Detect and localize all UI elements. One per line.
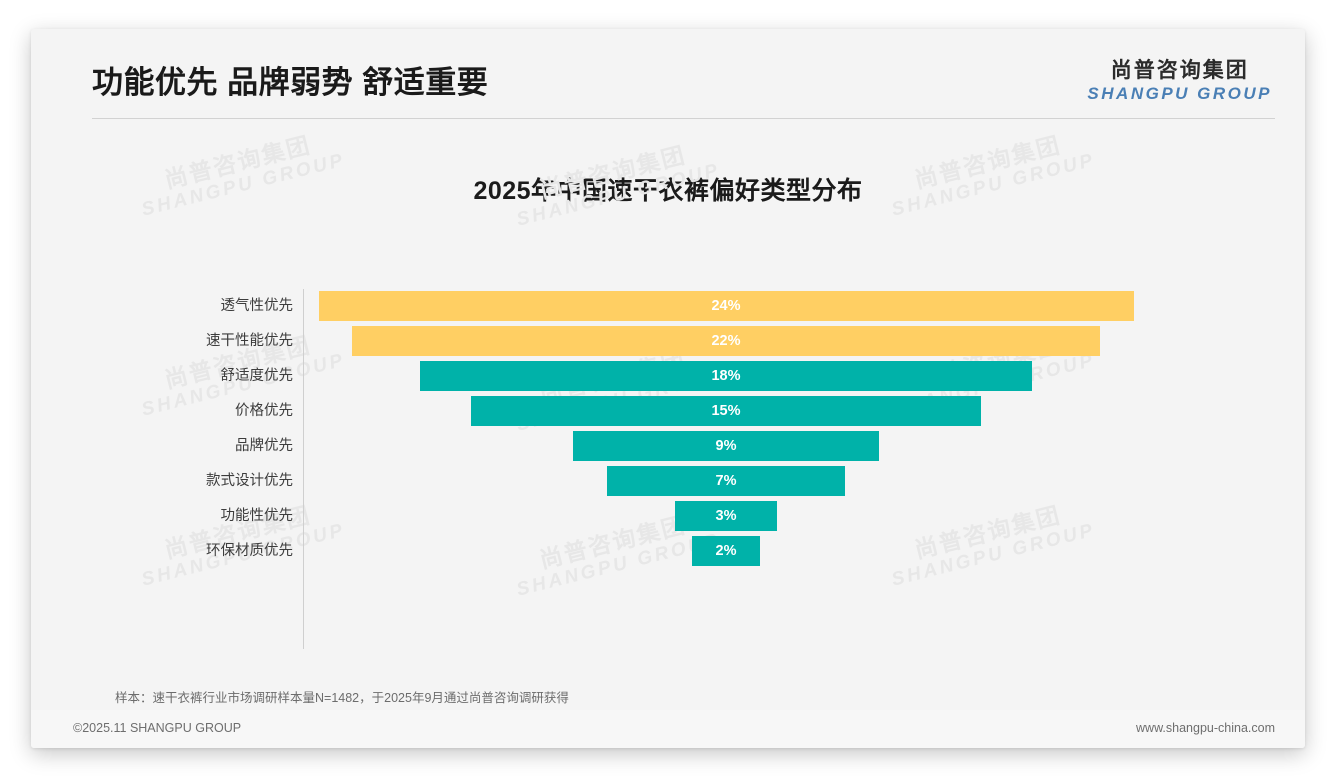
slide-footer: ©2025.11 SHANGPU GROUP www.shangpu-china… xyxy=(31,710,1305,748)
category-label: 舒适度优先 xyxy=(31,361,293,391)
bar-value-label: 24% xyxy=(711,298,740,314)
category-label: 速干性能优先 xyxy=(31,326,293,356)
bar-value-label: 3% xyxy=(716,508,737,524)
chart-plot: 透气性优先24%速干性能优先22%舒适度优先18%价格优先15%品牌优先9%款式… xyxy=(31,119,1305,659)
page-title: 功能优先 品牌弱势 舒适重要 xyxy=(92,57,488,102)
bar-track: 24% xyxy=(303,291,1305,321)
bar-segment[interactable]: 15% xyxy=(471,396,980,426)
chart-row: 透气性优先24% xyxy=(31,291,1305,321)
sample-note: 样本：速干衣裤行业市场调研样本量N=1482，于2025年9月通过尚普咨询调研获… xyxy=(115,687,569,706)
category-label: 功能性优先 xyxy=(31,501,293,531)
bar-track: 3% xyxy=(303,501,1305,531)
bar-segment[interactable]: 22% xyxy=(352,326,1099,356)
bar-value-label: 7% xyxy=(716,473,737,489)
bar-value-label: 22% xyxy=(711,333,740,349)
bar-value-label: 9% xyxy=(716,438,737,454)
category-label: 透气性优先 xyxy=(31,291,293,321)
bar-segment[interactable]: 3% xyxy=(675,501,777,531)
chart-row: 舒适度优先18% xyxy=(31,361,1305,391)
bar-track: 2% xyxy=(303,536,1305,566)
bar-value-label: 2% xyxy=(716,543,737,559)
bar-value-label: 18% xyxy=(711,368,740,384)
bar-segment[interactable]: 9% xyxy=(573,431,879,461)
bar-track: 18% xyxy=(303,361,1305,391)
chart-row: 环保材质优先2% xyxy=(31,536,1305,566)
bar-track: 22% xyxy=(303,326,1305,356)
slide-header: 功能优先 品牌弱势 舒适重要 尚普咨询集团 SHANGPU GROUP xyxy=(31,29,1305,119)
slide-card: 功能优先 品牌弱势 舒适重要 尚普咨询集团 SHANGPU GROUP 2025… xyxy=(31,29,1305,748)
bar-segment[interactable]: 2% xyxy=(692,536,760,566)
logo-english-text: SHANGPU GROUP xyxy=(1087,85,1272,102)
website-link[interactable]: www.shangpu-china.com xyxy=(1136,721,1275,735)
chart-row: 价格优先15% xyxy=(31,396,1305,426)
chart-row: 品牌优先9% xyxy=(31,431,1305,461)
chart-container: 2025年中国速干衣裤偏好类型分布 尚普咨询集团SHANGPU GROUP尚普咨… xyxy=(31,119,1305,659)
chart-row: 功能性优先3% xyxy=(31,501,1305,531)
bar-segment[interactable]: 24% xyxy=(319,291,1134,321)
category-label: 款式设计优先 xyxy=(31,466,293,496)
bar-track: 15% xyxy=(303,396,1305,426)
bar-track: 7% xyxy=(303,466,1305,496)
category-label: 品牌优先 xyxy=(31,431,293,461)
chart-row: 速干性能优先22% xyxy=(31,326,1305,356)
copyright-text: ©2025.11 SHANGPU GROUP xyxy=(73,721,241,735)
brand-logo: 尚普咨询集团 SHANGPU GROUP xyxy=(1087,60,1272,102)
bar-rows: 透气性优先24%速干性能优先22%舒适度优先18%价格优先15%品牌优先9%款式… xyxy=(31,291,1305,571)
chart-row: 款式设计优先7% xyxy=(31,466,1305,496)
bar-segment[interactable]: 18% xyxy=(420,361,1031,391)
bar-value-label: 15% xyxy=(711,403,740,419)
bar-segment[interactable]: 7% xyxy=(607,466,845,496)
bar-track: 9% xyxy=(303,431,1305,461)
category-label: 价格优先 xyxy=(31,396,293,426)
logo-chinese-text: 尚普咨询集团 xyxy=(1087,60,1272,81)
category-label: 环保材质优先 xyxy=(31,536,293,566)
